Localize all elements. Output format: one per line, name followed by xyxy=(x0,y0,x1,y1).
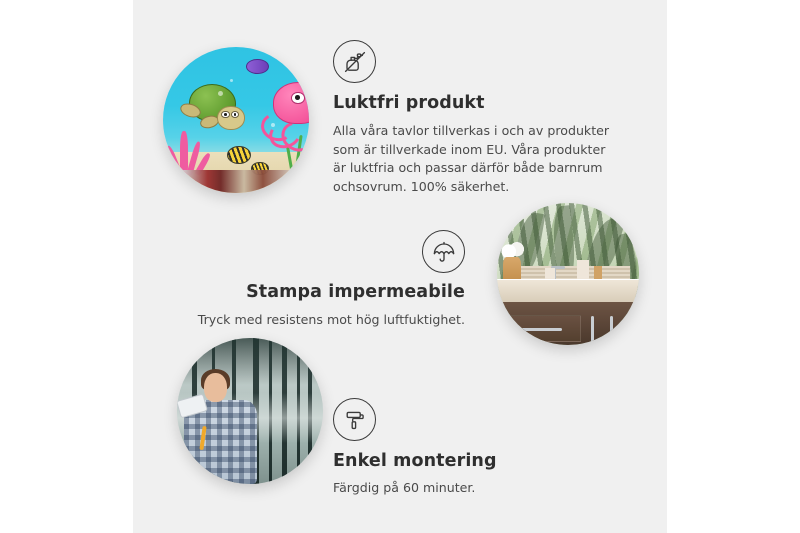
no-fragrance-spray-bottle-icon xyxy=(333,40,376,83)
underwater-cartoon-photo xyxy=(163,47,309,193)
feature-description: Tryck med resistens mot hög luftfuktighe… xyxy=(190,311,465,330)
woman-forest-photo xyxy=(177,338,323,484)
photo-bottom-strip xyxy=(183,170,294,193)
octopus-illustration xyxy=(259,82,309,146)
paint-roller-icon xyxy=(333,398,376,441)
fish-illustration xyxy=(227,146,251,164)
countertop xyxy=(497,279,639,303)
bubble xyxy=(271,123,275,127)
feature-odourless: Luktfri produkt Alla våra tavlor tillver… xyxy=(333,40,633,196)
feature-title: Luktfri produkt xyxy=(333,93,633,115)
vanity-cabinet xyxy=(497,302,639,345)
bathroom-wallpaper-photo xyxy=(497,203,639,345)
feature-title: Enkel montering xyxy=(333,451,633,473)
feature-assembly: Enkel montering Färgdig på 60 minuter. xyxy=(333,398,633,498)
backsplash xyxy=(514,266,630,280)
umbrella-icon xyxy=(422,230,465,273)
feature-title: Stampa impermeabile xyxy=(190,282,465,304)
fish-illustration xyxy=(246,59,268,74)
woman-figure xyxy=(183,373,259,484)
feature-description: Färgdig på 60 minuter. xyxy=(333,479,633,498)
feature-description: Alla våra tavlor tillverkas i och av pro… xyxy=(333,122,618,197)
feature-waterproof: Stampa impermeabile Tryck med resistens … xyxy=(190,230,465,330)
coral-illustration xyxy=(169,126,219,176)
promo-banner: Luktfri produkt Alla våra tavlor tillver… xyxy=(0,0,800,533)
